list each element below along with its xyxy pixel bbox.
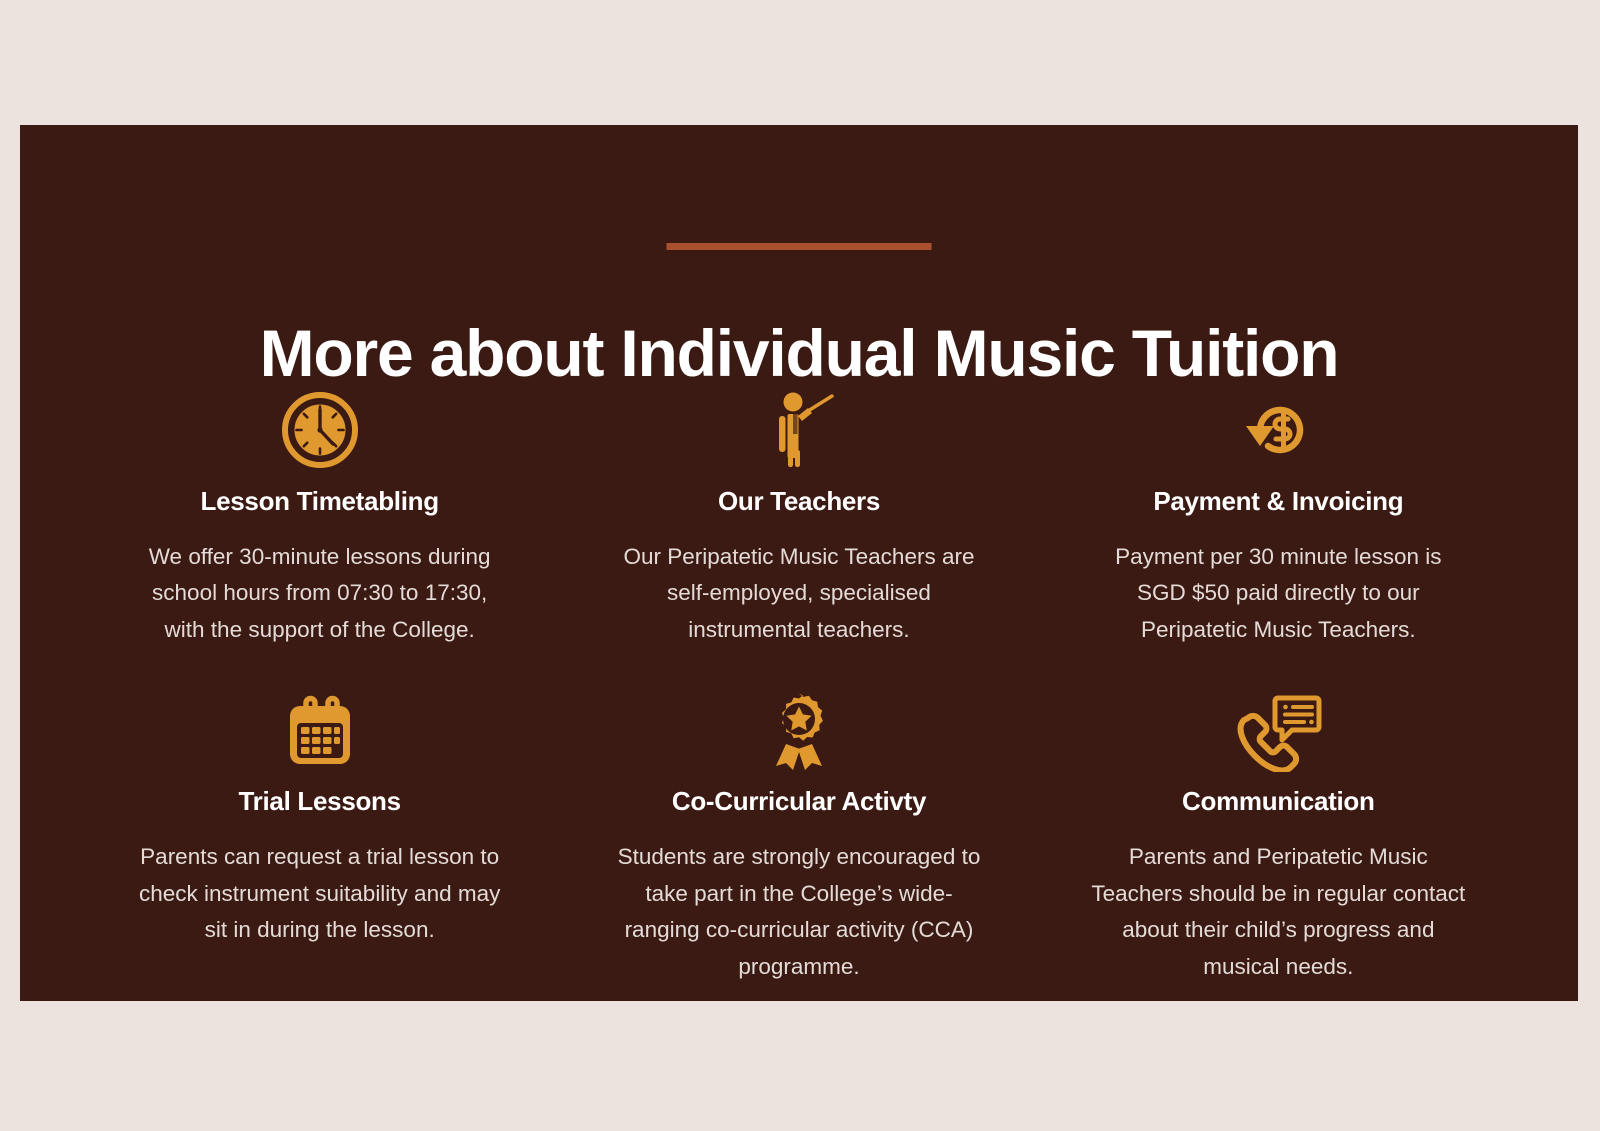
feature-card-co-curricular-activity: Co-Curricular Activty Students are stron… [559, 692, 1038, 985]
feature-card-lesson-timetabling: Lesson Timetabling We offer 30-minute le… [80, 390, 559, 648]
feature-body: Parents and Peripatetic Music Teachers s… [1088, 839, 1468, 985]
feature-title: Our Teachers [718, 486, 880, 517]
feature-title: Trial Lessons [239, 786, 401, 817]
feature-grid: Lesson Timetabling We offer 30-minute le… [80, 390, 1518, 985]
teacher-pointer-icon [760, 390, 838, 470]
feature-card-trial-lessons: Trial Lessons Parents can request a tria… [80, 692, 559, 985]
feature-card-payment-invoicing: Payment & Invoicing Payment per 30 minut… [1039, 390, 1518, 648]
feature-panel: More about Individual Music Tuition [20, 125, 1578, 1001]
feature-title: Co-Curricular Activty [672, 786, 926, 817]
feature-body: We offer 30-minute lessons during school… [130, 539, 510, 648]
calendar-icon [280, 692, 360, 772]
feature-body: Parents can request a trial lesson to ch… [130, 839, 510, 948]
award-rosette-icon [762, 692, 836, 772]
feature-card-communication: Communication Parents and Peripatetic Mu… [1039, 692, 1518, 985]
feature-body: Students are strongly encouraged to take… [609, 839, 989, 985]
page-title: More about Individual Music Tuition [20, 317, 1578, 390]
feature-title: Lesson Timetabling [201, 486, 439, 517]
phone-chat-icon [1234, 692, 1322, 772]
feature-title: Communication [1182, 786, 1375, 817]
feature-card-our-teachers: Our Teachers Our Peripatetic Music Teach… [559, 390, 1038, 648]
feature-body: Payment per 30 minute lesson is SGD $50 … [1088, 539, 1468, 648]
money-back-dollar-icon [1236, 390, 1320, 470]
feature-title: Payment & Invoicing [1153, 486, 1403, 517]
feature-body: Our Peripatetic Music Teachers are self-… [609, 539, 989, 648]
page-root: More about Individual Music Tuition [0, 0, 1600, 1131]
accent-bar [667, 243, 932, 250]
clock-icon [281, 390, 359, 470]
